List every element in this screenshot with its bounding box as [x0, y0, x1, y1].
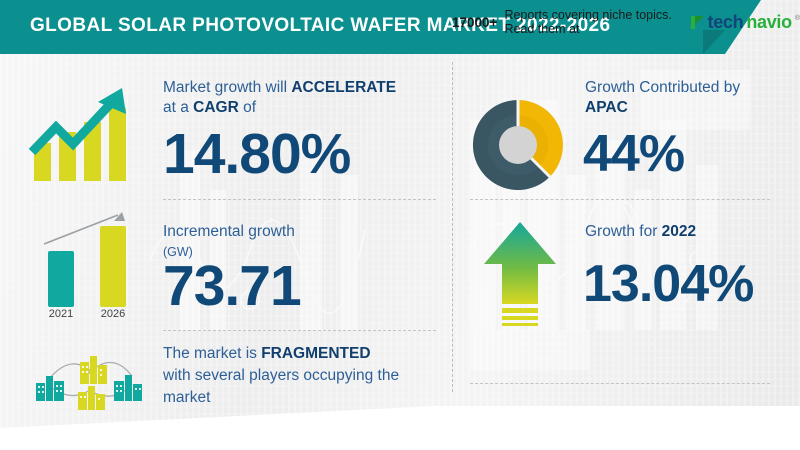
brand-name-navio: navio	[746, 12, 792, 33]
cagr-caption-cagr: CAGR	[193, 99, 239, 116]
brand-name-tech: tech	[708, 12, 744, 33]
cagr-caption-post: of	[239, 99, 256, 116]
footer-content: 17000+ Reports covering niche topics. Re…	[452, 0, 800, 44]
cagr-caption-accelerate: ACCELERATE	[291, 79, 396, 96]
incremental-caption-text: Incremental growth	[163, 223, 295, 240]
footer-report-count: 17000+	[452, 15, 497, 30]
column-divider	[452, 62, 453, 392]
fragmentation-caption-bold: FRAGMENTED	[261, 345, 370, 362]
incremental-icon-wrap: 2021 2026	[26, 207, 151, 319]
city-buildings-network-icon	[26, 348, 151, 418]
growth2022-caption-year: 2022	[662, 223, 696, 240]
fragmentation-caption-pre: The market is	[163, 345, 261, 362]
apac-value: 44%	[583, 128, 684, 180]
growth2022-value: 13.04%	[583, 258, 753, 310]
technavio-logo[interactable]: technavio®	[690, 12, 800, 33]
fragmentation-icon-wrap	[26, 348, 151, 418]
divider-right-2	[470, 383, 770, 384]
cagr-caption: Market growth will ACCELERATE at a CAGR …	[163, 78, 438, 118]
growth2022-caption: Growth for 2022	[585, 222, 785, 242]
two-bar-comparison-icon: 2021 2026	[26, 207, 151, 319]
cagr-caption-pre: Market growth will	[163, 79, 291, 96]
divider-left-1	[163, 199, 436, 200]
divider-left-2	[163, 330, 436, 331]
growth2022-icon-wrap	[470, 218, 570, 338]
apac-caption: Growth Contributed by APAC	[585, 78, 785, 118]
incremental-bar-label-2026: 2026	[101, 308, 125, 319]
fragmentation-caption: The market is FRAGMENTED with several pl…	[163, 343, 443, 409]
bar-chart-growth-icon	[26, 80, 151, 185]
cagr-value: 14.80%	[163, 126, 350, 183]
fragmentation-caption-post: with several players occupying the marke…	[163, 367, 399, 406]
cagr-icon-wrap	[26, 80, 151, 185]
brand-trademark: ®	[795, 15, 800, 22]
incremental-bar-label-2021: 2021	[49, 308, 73, 319]
up-arrow-icon	[470, 218, 570, 338]
apac-icon-wrap	[468, 95, 568, 195]
footer-text: Reports covering niche topics. Read them…	[504, 8, 676, 36]
apac-caption-region: APAC	[585, 99, 628, 116]
apac-caption-text: Growth Contributed by	[585, 79, 740, 96]
technavio-flag-icon	[690, 14, 705, 31]
divider-right-1	[470, 199, 770, 200]
donut-chart-icon	[468, 95, 568, 195]
growth2022-caption-pre: Growth for	[585, 223, 662, 240]
infographic-canvas: GLOBAL SOLAR PHOTOVOLTAIC WAFER MARKET 2…	[0, 0, 800, 450]
cagr-caption-mid: at a	[163, 99, 193, 116]
incremental-value: 73.71	[163, 258, 301, 315]
